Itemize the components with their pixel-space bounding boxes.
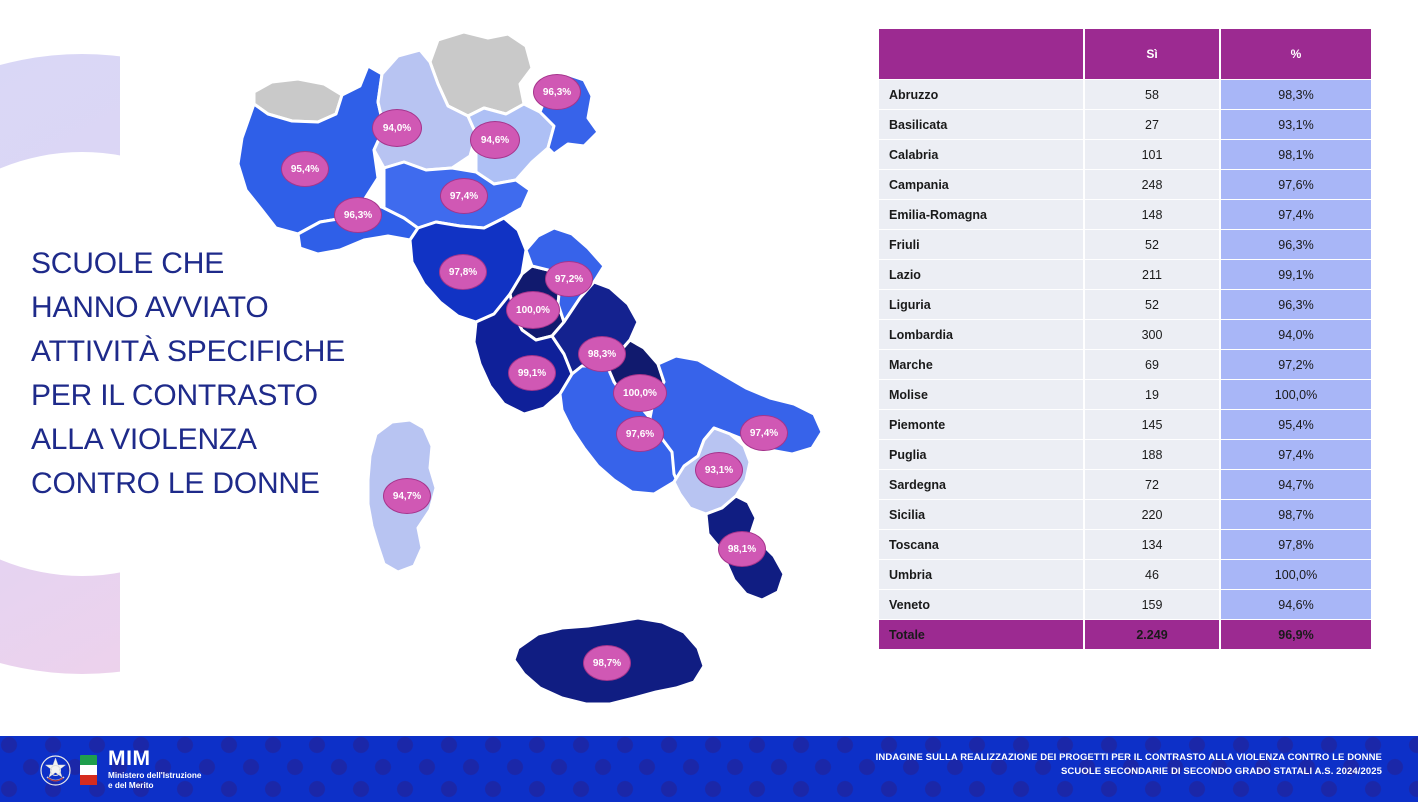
cell-region: Umbria (879, 560, 1083, 589)
table-row: Veneto 159 94,6% (879, 590, 1371, 619)
cell-total-label: Totale (879, 620, 1083, 649)
cell-si: 134 (1085, 530, 1219, 559)
map-bubble-umbria: 100,0% (506, 291, 560, 329)
cell-si: 211 (1085, 260, 1219, 289)
cell-total-si: 2.249 (1085, 620, 1219, 649)
map-bubble-liguria: 96,3% (334, 197, 382, 233)
republic-emblem-icon (40, 755, 71, 786)
cell-si: 52 (1085, 230, 1219, 259)
map-bubble-puglia: 97,4% (740, 415, 788, 451)
table-total-row: Totale 2.249 96,9% (879, 620, 1371, 649)
table-row: Lazio 211 99,1% (879, 260, 1371, 289)
map-bubble-lombardia: 94,0% (372, 109, 422, 147)
cell-pct: 98,3% (1221, 80, 1371, 109)
cell-region: Abruzzo (879, 80, 1083, 109)
cell-si: 159 (1085, 590, 1219, 619)
cell-region: Emilia-Romagna (879, 200, 1083, 229)
cell-region: Basilicata (879, 110, 1083, 139)
cell-pct: 96,3% (1221, 230, 1371, 259)
cell-pct: 97,2% (1221, 350, 1371, 379)
cell-total-pct: 96,9% (1221, 620, 1371, 649)
table-row: Friuli 52 96,3% (879, 230, 1371, 259)
cell-si: 52 (1085, 290, 1219, 319)
table-row: Liguria 52 96,3% (879, 290, 1371, 319)
cell-region: Calabria (879, 140, 1083, 169)
cell-pct: 97,6% (1221, 170, 1371, 199)
cell-pct: 94,0% (1221, 320, 1371, 349)
cell-si: 188 (1085, 440, 1219, 469)
italian-flag-icon (80, 755, 97, 786)
cell-region: Liguria (879, 290, 1083, 319)
cell-region: Lazio (879, 260, 1083, 289)
column-header-pct: % (1221, 29, 1371, 79)
table-header-row: Sì % (879, 29, 1371, 79)
cell-region: Molise (879, 380, 1083, 409)
table-row: Campania 248 97,6% (879, 170, 1371, 199)
cell-region: Friuli (879, 230, 1083, 259)
cell-pct: 97,8% (1221, 530, 1371, 559)
map-bubble-emilia: 97,4% (440, 178, 488, 214)
table-row: Puglia 188 97,4% (879, 440, 1371, 469)
map-bubble-sardegna: 94,7% (383, 478, 431, 514)
table-row: Sicilia 220 98,7% (879, 500, 1371, 529)
mim-logo: MIM Ministero dell'Istruzione e del Meri… (40, 749, 201, 791)
cell-region: Toscana (879, 530, 1083, 559)
cell-region: Puglia (879, 440, 1083, 469)
table-row: Sardegna 72 94,7% (879, 470, 1371, 499)
cell-si: 248 (1085, 170, 1219, 199)
map-bubble-veneto: 94,6% (470, 121, 520, 159)
cell-region: Sicilia (879, 500, 1083, 529)
map-bubble-lazio: 99,1% (508, 355, 556, 391)
table-row: Marche 69 97,2% (879, 350, 1371, 379)
footer-caption: INDAGINE SULLA REALIZZAZIONE DEI PROGETT… (876, 751, 1382, 779)
cell-si: 220 (1085, 500, 1219, 529)
cell-region: Marche (879, 350, 1083, 379)
map-bubble-basilicata: 93,1% (695, 452, 743, 488)
italy-choropleth-map: 96,3% 94,0% 94,6% 95,4% 96,3% 97,4% 97,8… (232, 22, 872, 734)
table-row: Umbria 46 100,0% (879, 560, 1371, 589)
table-row: Lombardia 300 94,0% (879, 320, 1371, 349)
footer-bar: MIM Ministero dell'Istruzione e del Meri… (0, 736, 1418, 802)
map-bubble-abruzzo: 98,3% (578, 336, 626, 372)
cell-si: 27 (1085, 110, 1219, 139)
cell-si: 72 (1085, 470, 1219, 499)
cell-si: 101 (1085, 140, 1219, 169)
cell-pct: 95,4% (1221, 410, 1371, 439)
table-row: Piemonte 145 95,4% (879, 410, 1371, 439)
cell-region: Piemonte (879, 410, 1083, 439)
map-bubble-calabria: 98,1% (718, 531, 766, 567)
table-body: Abruzzo 58 98,3% Basilicata 27 93,1% Cal… (879, 80, 1371, 649)
regions-data-table: Sì % Abruzzo 58 98,3% Basilicata 27 93,1… (877, 28, 1369, 650)
map-bubble-sicilia: 98,7% (583, 645, 631, 681)
cell-si: 69 (1085, 350, 1219, 379)
column-header-si: Sì (1085, 29, 1219, 79)
table: Sì % Abruzzo 58 98,3% Basilicata 27 93,1… (877, 28, 1373, 650)
cell-si: 19 (1085, 380, 1219, 409)
cell-region: Veneto (879, 590, 1083, 619)
map-bubble-toscana: 97,8% (439, 254, 487, 290)
table-row: Basilicata 27 93,1% (879, 110, 1371, 139)
cell-pct: 100,0% (1221, 380, 1371, 409)
map-bubble-molise: 100,0% (613, 374, 667, 412)
mim-ministry-name: Ministero dell'Istruzione e del Merito (108, 771, 201, 791)
cell-region: Sardegna (879, 470, 1083, 499)
cell-si: 46 (1085, 560, 1219, 589)
column-header-region (879, 29, 1083, 79)
cell-pct: 97,4% (1221, 440, 1371, 469)
map-bubble-friuli: 96,3% (533, 74, 581, 110)
cell-pct: 98,1% (1221, 140, 1371, 169)
table-row: Toscana 134 97,8% (879, 530, 1371, 559)
table-row: Molise 19 100,0% (879, 380, 1371, 409)
cell-pct: 94,6% (1221, 590, 1371, 619)
cell-pct: 100,0% (1221, 560, 1371, 589)
mim-wordmark: MIM Ministero dell'Istruzione e del Meri… (108, 749, 201, 791)
table-row: Emilia-Romagna 148 97,4% (879, 200, 1371, 229)
map-bubble-piemonte: 95,4% (281, 151, 329, 187)
map-bubble-campania: 97,6% (616, 416, 664, 452)
table-row: Abruzzo 58 98,3% (879, 80, 1371, 109)
cell-pct: 97,4% (1221, 200, 1371, 229)
table-row: Calabria 101 98,1% (879, 140, 1371, 169)
cell-pct: 98,7% (1221, 500, 1371, 529)
cell-pct: 93,1% (1221, 110, 1371, 139)
mim-acronym: MIM (108, 749, 201, 769)
cell-si: 58 (1085, 80, 1219, 109)
map-bubble-marche: 97,2% (545, 261, 593, 297)
cell-pct: 96,3% (1221, 290, 1371, 319)
cell-pct: 99,1% (1221, 260, 1371, 289)
cell-region: Campania (879, 170, 1083, 199)
cell-region: Lombardia (879, 320, 1083, 349)
cell-pct: 94,7% (1221, 470, 1371, 499)
cell-si: 145 (1085, 410, 1219, 439)
cell-si: 300 (1085, 320, 1219, 349)
cell-si: 148 (1085, 200, 1219, 229)
